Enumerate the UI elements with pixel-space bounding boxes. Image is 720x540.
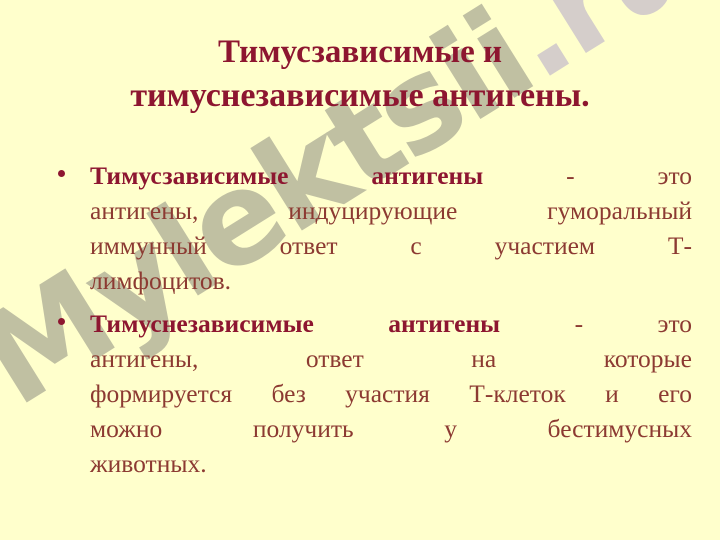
bullet-2-paragraph: Тимуснезависимые антигены - это антигены… (90, 306, 692, 481)
bullet-list: Тимусзависимые антигены - это антигены, … (34, 158, 692, 489)
bullet-1-lead: Тимусзависимые антигены (90, 161, 483, 190)
bullet-1-line-2: антигены, индуцирующие гуморальный (90, 193, 692, 228)
bullet-1-line-1-rest: - это (566, 161, 692, 190)
bullet-2-line-5: животных. (90, 446, 692, 481)
list-item: Тимусзависимые антигены - это антигены, … (34, 158, 692, 298)
bullet-1-line-4: лимфоцитов. (90, 263, 692, 298)
title-line-2: тимуснезависимые антигены. (40, 74, 680, 118)
bullet-2-line-1-rest: - это (575, 309, 692, 338)
bullet-2-line-3: формируется без участия Т-клеток и его (90, 376, 692, 411)
bullet-2-lead: Тимуснезависимые антигены (90, 309, 500, 338)
list-item: Тимуснезависимые антигены - это антигены… (34, 306, 692, 481)
bullet-1-line-1: Тимусзависимые антигены - это (90, 158, 692, 193)
bullet-1-paragraph: Тимусзависимые антигены - это антигены, … (90, 158, 692, 298)
title-line-1: Тимусзависимые и (40, 30, 680, 74)
bullet-1-line-3: иммунный ответ с участием Т- (90, 228, 692, 263)
bullet-2-line-1: Тимуснезависимые антигены - это (90, 306, 692, 341)
page-title: Тимусзависимые и тимуснезависимые антиге… (40, 30, 680, 118)
bullet-2-line-4: можно получить у бестимусных (90, 411, 692, 446)
bullet-dot-icon (58, 318, 65, 325)
bullet-2-line-2: антигены, ответ на которые (90, 341, 692, 376)
bullet-dot-icon (58, 170, 65, 177)
slide-canvas: Mylektsii.ru24 Тимусзависимые и тимуснез… (0, 0, 720, 540)
